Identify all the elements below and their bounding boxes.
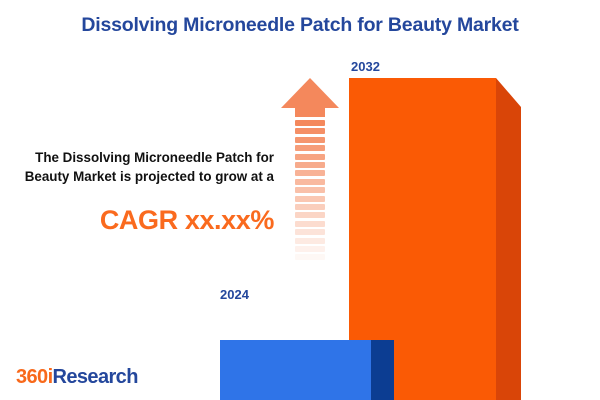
arrow-shaft-segment: [295, 212, 325, 218]
arrow-shaft-segment: [295, 204, 325, 210]
upward-growth-arrow-icon: [281, 78, 339, 298]
arrow-shaft-segment: [295, 221, 325, 227]
arrow-shaft-segment: [295, 170, 325, 176]
infographic-canvas: Dissolving Microneedle Patch for Beauty …: [0, 0, 600, 400]
bar-2024-year-label: 2024: [220, 287, 249, 302]
arrow-shaft-segment: [295, 179, 325, 185]
arrow-shaft-segment: [295, 128, 325, 134]
arrow-shaft-segment: [295, 196, 325, 202]
page-title: Dissolving Microneedle Patch for Beauty …: [0, 14, 600, 37]
bar-2024: [220, 340, 371, 400]
arrow-neck: [295, 108, 325, 117]
cagr-value: CAGR xx.xx%: [22, 205, 274, 236]
arrow-shaft-segment: [295, 154, 325, 160]
arrow-shaft-segment: [295, 246, 325, 252]
arrow-shaft-segment: [295, 187, 325, 193]
logo-text-research: Research: [53, 366, 138, 388]
bar-2032-side-face: [496, 78, 521, 400]
bar-2024-front-face: [220, 340, 371, 400]
bar-2024-side-face: [371, 340, 394, 400]
logo-text-360: 360: [16, 366, 48, 388]
arrow-head-icon: [281, 78, 339, 108]
arrow-shaft-segment: [295, 120, 325, 126]
arrow-shaft-segment: [295, 229, 325, 235]
arrow-shaft-segment: [295, 145, 325, 151]
arrow-shaft-segment: [295, 263, 325, 269]
arrow-shaft-segment: [295, 162, 325, 168]
arrow-shaft-segment: [295, 254, 325, 260]
bar-2032-year-label: 2032: [351, 59, 380, 74]
arrow-shaft-segment: [295, 238, 325, 244]
brand-logo: 360iResearch: [16, 366, 138, 389]
growth-statement-text: The Dissolving Microneedle Patch for Bea…: [22, 148, 274, 186]
arrow-shaft-segment: [295, 137, 325, 143]
